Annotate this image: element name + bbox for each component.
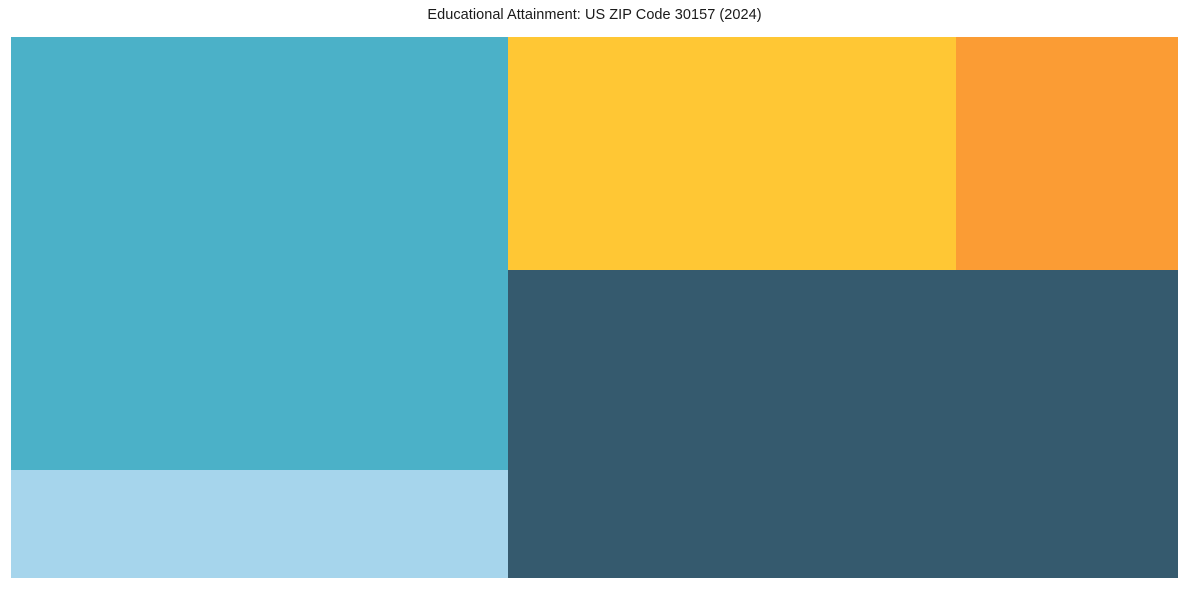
treemap-tile-5[interactable]: Less than High School [508,270,1178,578]
chart-title: Educational Attainment: US ZIP Code 3015… [0,0,1189,37]
treemap-tile-2[interactable]: High School Graduate [11,470,508,578]
treemap-figure: Educational Attainment: US ZIP Code 3015… [0,0,1189,590]
treemap-tile-1[interactable]: Some College / Associate [11,37,508,470]
treemap-tile-4[interactable]: Graduate / Professional Degree [956,37,1178,270]
treemap-tile-3[interactable]: Bachelor's Degree [508,37,956,270]
treemap-plot-area: Some College / AssociateHigh School Grad… [11,37,1178,578]
